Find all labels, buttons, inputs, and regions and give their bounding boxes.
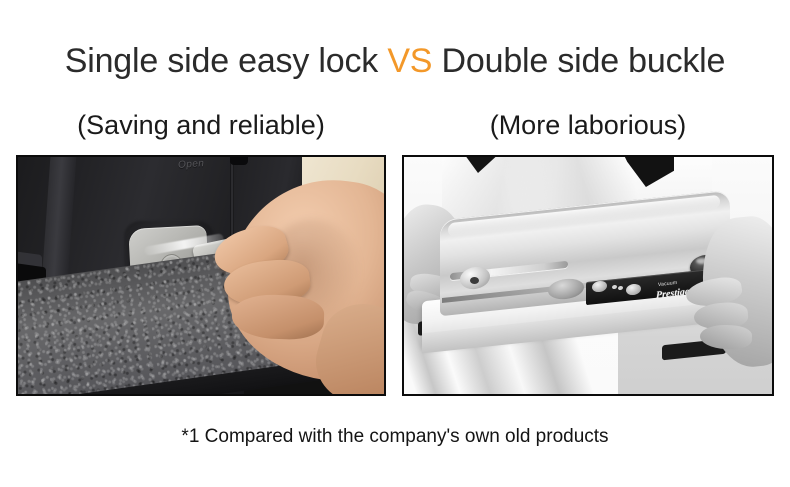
title-part-right: Double side buckle xyxy=(432,42,725,80)
footnote-text: *1 Compared with the company's own old p… xyxy=(0,424,790,450)
title-part-left: Single side easy lock xyxy=(65,42,388,80)
left-comparison-photo: Open xyxy=(16,155,386,396)
open-emboss-label: Open xyxy=(178,158,205,171)
appliance-top-notch xyxy=(230,157,248,165)
title-vs-label: VS xyxy=(387,42,432,80)
right-photo-scene: Vacuum Prestige Roll xyxy=(404,157,772,394)
page-title: Single side easy lock VS Double side buc… xyxy=(0,40,790,82)
machine-vacuum-port-hole xyxy=(470,277,479,284)
right-comparison-photo: Vacuum Prestige Roll xyxy=(402,155,774,396)
left-subtitle: (Saving and reliable) xyxy=(16,107,386,143)
left-photo-scene: Open xyxy=(18,157,384,394)
subtitle-row: (Saving and reliable) (More laborious) xyxy=(0,107,790,145)
right-subtitle: (More laborious) xyxy=(402,107,774,143)
